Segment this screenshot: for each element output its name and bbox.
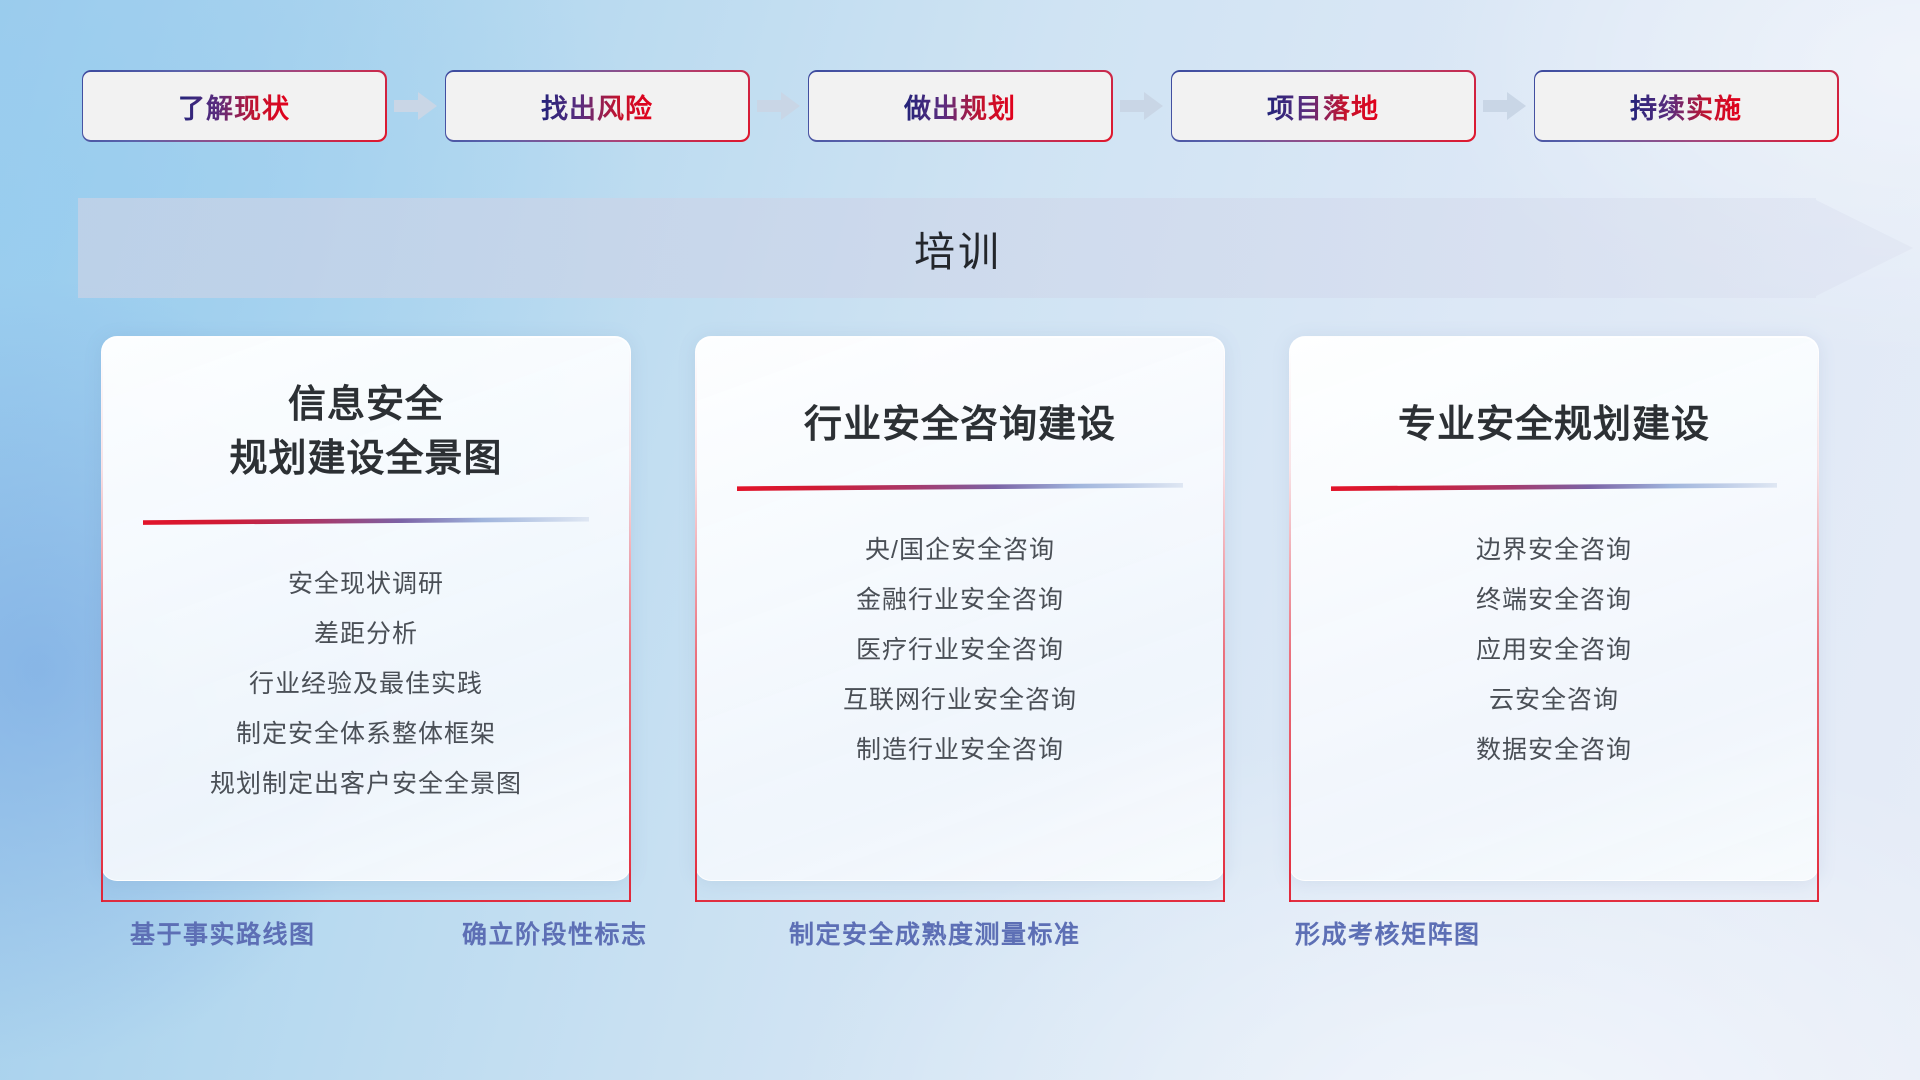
card-divider-1 <box>143 517 589 525</box>
list-item: 边界安全咨询 <box>1476 525 1632 575</box>
list-item: 安全现状调研 <box>288 559 444 609</box>
list-item: 规划制定出客户安全全景图 <box>210 759 522 809</box>
card-title-1-line1: 信息安全 <box>288 384 444 426</box>
step-box-2-inner: 找出风险 <box>446 72 748 141</box>
banner-label: 培训 <box>78 198 1838 298</box>
step-arrow-icon-1 <box>387 70 445 142</box>
bottom-label-2: 确立阶段性标志 <box>462 915 648 951</box>
bottom-label-row: 基于事实路线图 确立阶段性标志 制定安全成熟度测量标准 形成考核矩阵图 <box>0 915 1920 965</box>
card-title-3: 专业安全规划建设 <box>1290 399 1818 453</box>
card-list-2: 央/国企安全咨询 金融行业安全咨询 医疗行业安全咨询 互联网行业安全咨询 制造行… <box>696 525 1224 775</box>
step-box-5-inner: 持续实施 <box>1535 72 1837 141</box>
card-list-3: 边界安全咨询 终端安全咨询 应用安全咨询 云安全咨询 数据安全咨询 <box>1290 525 1818 775</box>
bottom-label-3: 制定安全成熟度测量标准 <box>789 915 1081 951</box>
step-label-3: 做出规划 <box>904 87 1016 126</box>
card-right-accent <box>1817 347 1819 902</box>
card-right-accent <box>629 347 631 902</box>
list-item: 金融行业安全咨询 <box>856 575 1064 625</box>
step-arrow-icon-2 <box>750 70 808 142</box>
list-item: 互联网行业安全咨询 <box>843 675 1077 725</box>
process-step-row: 了解现状 找出风险 做出规划 项目落地 持续实施 <box>0 70 1920 142</box>
card-bottom-accent <box>101 900 631 902</box>
card-list-1: 安全现状调研 差距分析 行业经验及最佳实践 制定安全体系整体框架 规划制定出客户… <box>102 559 630 809</box>
card-information-security-panorama[interactable]: 信息安全 规划建设全景图 安全现状调研 差距分析 行业经验及最佳实践 制定安全体… <box>101 336 631 881</box>
step-label-5: 持续实施 <box>1630 87 1742 126</box>
list-item: 制造行业安全咨询 <box>856 725 1064 775</box>
step-box-1-inner: 了解现状 <box>83 72 385 141</box>
list-item: 差距分析 <box>314 609 418 659</box>
card-bottom-accent <box>1289 900 1819 902</box>
card-bottom-accent <box>695 900 1225 902</box>
step-box-4-inner: 项目落地 <box>1172 72 1474 141</box>
step-arrow-icon-3 <box>1113 70 1171 142</box>
card-title-1: 信息安全 规划建设全景图 <box>102 379 630 487</box>
card-title-2-line1: 行业安全咨询建设 <box>804 404 1116 446</box>
card-professional-security-planning[interactable]: 专业安全规划建设 边界安全咨询 终端安全咨询 应用安全咨询 云安全咨询 数据安全… <box>1289 336 1819 881</box>
card-divider-3 <box>1331 483 1777 491</box>
card-title-3-line1: 专业安全规划建设 <box>1398 404 1710 446</box>
step-box-3[interactable]: 做出规划 <box>808 70 1113 142</box>
step-box-3-inner: 做出规划 <box>809 72 1111 141</box>
card-industry-security-consulting[interactable]: 行业安全咨询建设 央/国企安全咨询 金融行业安全咨询 医疗行业安全咨询 互联网行… <box>695 336 1225 881</box>
card-row: 信息安全 规划建设全景图 安全现状调研 差距分析 行业经验及最佳实践 制定安全体… <box>0 336 1920 881</box>
list-item: 终端安全咨询 <box>1476 575 1632 625</box>
list-item: 应用安全咨询 <box>1476 625 1632 675</box>
step-box-4[interactable]: 项目落地 <box>1171 70 1476 142</box>
card-left-accent <box>1289 347 1291 902</box>
card-title-1-line2: 规划建设全景图 <box>126 433 606 487</box>
card-divider-2 <box>737 483 1183 491</box>
step-box-5[interactable]: 持续实施 <box>1534 70 1839 142</box>
step-box-1[interactable]: 了解现状 <box>82 70 387 142</box>
list-item: 行业经验及最佳实践 <box>249 659 483 709</box>
list-item: 云安全咨询 <box>1489 675 1619 725</box>
list-item: 制定安全体系整体框架 <box>236 709 496 759</box>
list-item: 央/国企安全咨询 <box>865 525 1055 575</box>
card-right-accent <box>1223 347 1225 902</box>
list-item: 数据安全咨询 <box>1476 725 1632 775</box>
bottom-label-1: 基于事实路线图 <box>130 915 316 951</box>
training-banner: 培训 <box>78 198 1913 298</box>
card-left-accent <box>101 347 103 902</box>
bottom-label-4: 形成考核矩阵图 <box>1295 915 1481 951</box>
card-left-accent <box>695 347 697 902</box>
step-label-1: 了解现状 <box>178 87 290 126</box>
step-label-4: 项目落地 <box>1267 87 1379 126</box>
list-item: 医疗行业安全咨询 <box>856 625 1064 675</box>
card-title-2: 行业安全咨询建设 <box>696 399 1224 453</box>
step-arrow-icon-4 <box>1476 70 1534 142</box>
step-label-2: 找出风险 <box>541 87 653 126</box>
step-box-2[interactable]: 找出风险 <box>445 70 750 142</box>
